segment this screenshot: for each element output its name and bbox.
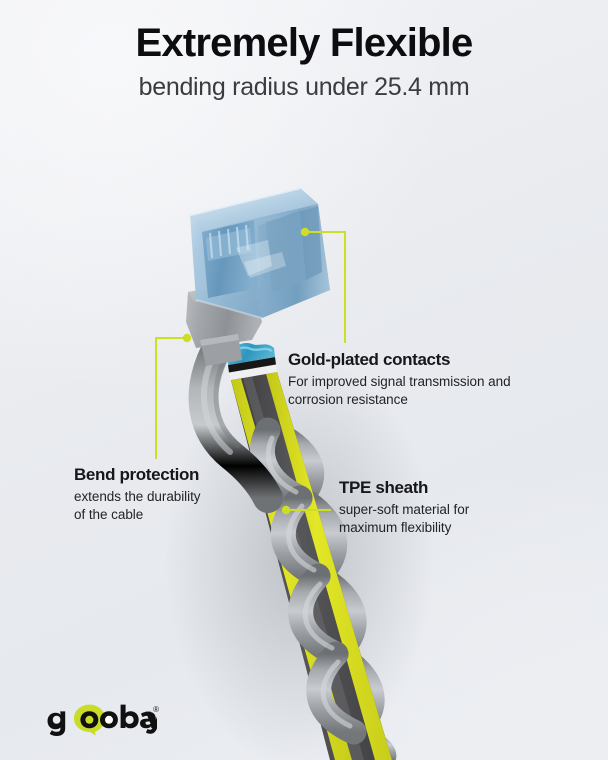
- page-subtitle: bending radius under 25.4 mm: [0, 74, 608, 102]
- callout-title: Gold-plated contacts: [288, 350, 511, 370]
- callout-body-line-2: corrosion resistance: [288, 392, 408, 407]
- callout-body: For improved signal transmission and cor…: [288, 373, 511, 409]
- logo-wordmark: [48, 705, 156, 736]
- callout-body: super-soft material for maximum flexibil…: [339, 501, 469, 537]
- callout-body: extends the durability of the cable: [74, 488, 200, 524]
- leader-dot-tpe-sheath: [282, 506, 290, 514]
- goobay-logo-mark: [47, 702, 157, 736]
- goobay-logo: ®: [47, 702, 157, 736]
- leader-gold-plated: [305, 232, 345, 343]
- infographic-canvas: Extremely Flexible bending radius under …: [0, 0, 608, 760]
- callout-bend-protection: Bend protection extends the durability o…: [74, 465, 200, 524]
- callout-gold-plated-contacts: Gold-plated contacts For improved signal…: [288, 350, 511, 409]
- callout-body-line-1: super-soft material for: [339, 502, 469, 517]
- callout-title: Bend protection: [74, 465, 200, 485]
- page-title: Extremely Flexible: [0, 22, 608, 64]
- logo-letter-y: [146, 712, 157, 734]
- registered-trademark-symbol: ®: [153, 705, 159, 714]
- callout-tpe-sheath: TPE sheath super-soft material for maxim…: [339, 478, 469, 537]
- leader-dot-gold-plated: [301, 228, 309, 236]
- leader-bend-protection: [156, 338, 187, 459]
- callout-body-line-1: For improved signal transmission and: [288, 374, 511, 389]
- callout-body-line-2: of the cable: [74, 507, 143, 522]
- callout-body-line-2: maximum flexibility: [339, 520, 451, 535]
- header-block: Extremely Flexible bending radius under …: [0, 22, 608, 102]
- leader-dot-bend-protection: [183, 334, 191, 342]
- callout-title: TPE sheath: [339, 478, 469, 498]
- callout-body-line-1: extends the durability: [74, 489, 200, 504]
